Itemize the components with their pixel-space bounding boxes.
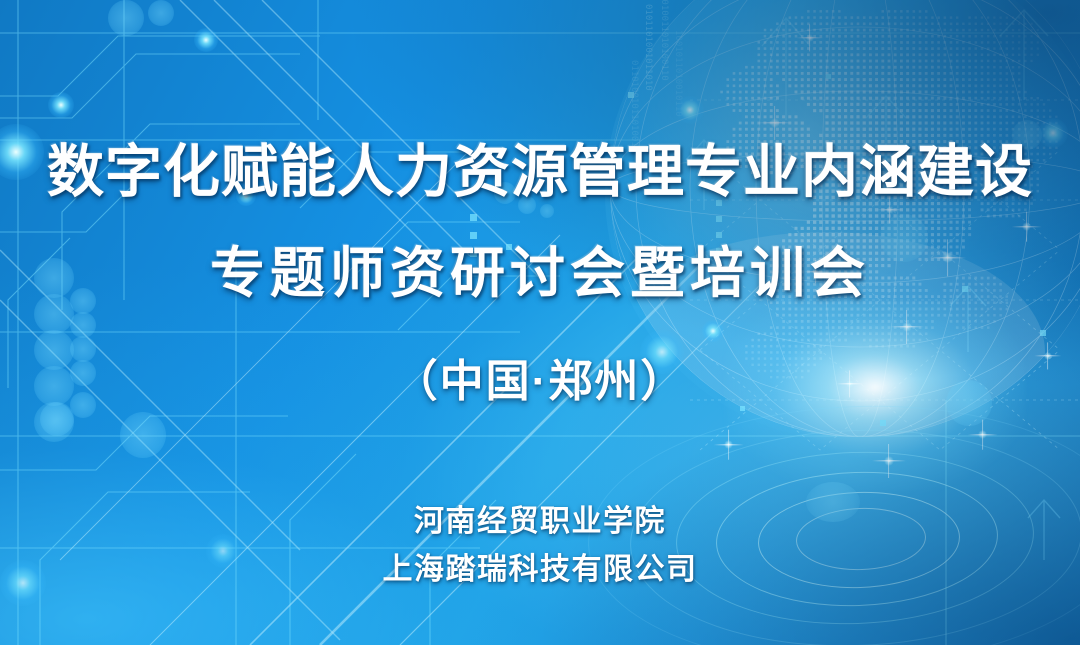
conference-banner: 0101101001011010 1010011010100110 011010… (0, 0, 1080, 645)
organizer-line-1: 河南经贸职业学院 (0, 496, 1080, 540)
banner-title-line-2: 专题师资研讨会暨培训会 (0, 228, 1080, 308)
banner-title-line-1: 数字化赋能人力资源管理专业内涵建设 (0, 126, 1080, 208)
banner-location-subtitle: （中国·郑州） (0, 345, 1080, 409)
banner-text: 数字化赋能人力资源管理专业内涵建设 专题师资研讨会暨培训会 （中国·郑州） 河南… (0, 0, 1080, 645)
organizer-line-2: 上海踏瑞科技有限公司 (0, 544, 1080, 588)
